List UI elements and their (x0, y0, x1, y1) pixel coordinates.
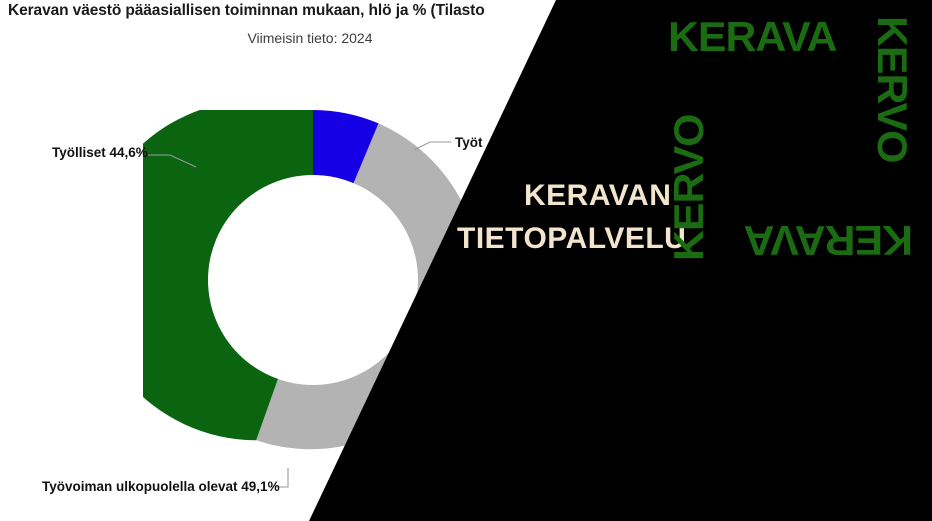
chart-screenshot: Keravan väestö pääasiallisen toiminnan m… (0, 0, 932, 521)
kerava-logo-word-left: KERVO (668, 115, 710, 261)
data-label-unemployed: Työt (455, 135, 483, 150)
brand-name-line-2: TIETOPALVELU (457, 218, 686, 261)
kerava-logo: KERAVA KERVO KERAVA KERVO (668, 16, 913, 261)
data-label-outside-labour-force: Työvoiman ulkopuolella olevat 49,1% (42, 479, 280, 494)
donut-hole (208, 175, 418, 385)
chart-subtitle: Viimeisin tieto: 2024 (0, 30, 620, 46)
brand-name-line-1: KERAVAN (524, 175, 671, 218)
kerava-logo-word-bottom: KERAVA (745, 219, 913, 261)
data-label-employed: Työlliset 44,6% (52, 145, 148, 160)
kerava-logo-word-right: KERVO (871, 16, 913, 162)
